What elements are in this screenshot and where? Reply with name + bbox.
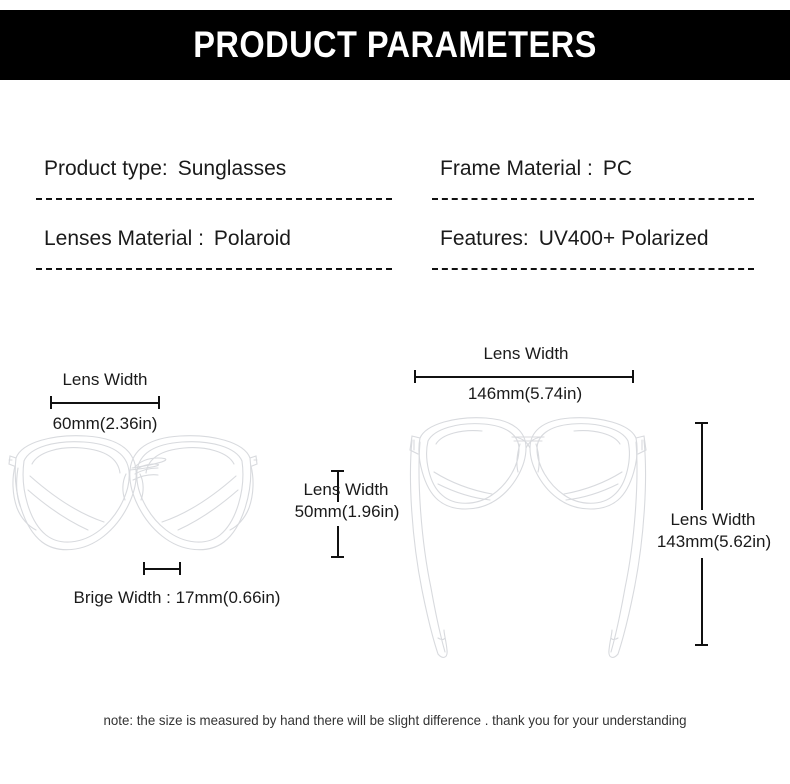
spec-label: Features:	[440, 227, 529, 250]
dimension-bar	[50, 402, 160, 404]
dimension-cap	[331, 556, 344, 558]
spec-divider	[36, 268, 392, 270]
back-total-height-measure: 143mm(5.62in)	[640, 532, 788, 552]
back-total-width-measure: 146mm(5.74in)	[450, 384, 600, 404]
back-total-width-caption: Lens Width	[456, 344, 596, 364]
spec-row: Product type:Sunglasses Frame Material :…	[0, 140, 790, 210]
dimension-cap	[331, 470, 344, 472]
product-parameters-page: PRODUCT PARAMETERS Product type:Sunglass…	[0, 0, 790, 784]
back-total-height-caption: Lens Width	[648, 510, 778, 530]
spec-lenses-material: Lenses Material :Polaroid	[44, 210, 291, 268]
back-total-height-dimension-line-bottom	[695, 558, 708, 646]
back-total-width-dimension-line	[414, 370, 634, 383]
sunglasses-back-view-illustration	[408, 410, 648, 660]
spec-value: PC	[593, 157, 632, 180]
front-lens-width-caption: Lens Width	[40, 370, 170, 390]
sunglasses-front-view-illustration	[8, 430, 258, 570]
spec-frame-material: Frame Material :PC	[440, 140, 632, 198]
dimension-bar	[701, 422, 703, 510]
dimension-bar	[337, 526, 339, 558]
dimension-bar	[143, 568, 181, 570]
dimension-bar	[701, 558, 703, 646]
front-lens-width-measure: 60mm(2.36in)	[32, 414, 178, 434]
spec-product-type: Product type:Sunglasses	[44, 140, 286, 198]
dimension-cap	[143, 562, 145, 575]
spec-value: Polaroid	[204, 227, 291, 250]
page-title: PRODUCT PARAMETERS	[47, 10, 742, 80]
front-lens-height-measure: 50mm(1.96in)	[292, 502, 402, 522]
spec-features: Features:UV400+ Polarized	[440, 210, 709, 268]
header-banner: PRODUCT PARAMETERS	[0, 10, 790, 80]
spec-divider	[432, 268, 754, 270]
measurement-diagram: Lens Width 60mm(2.36in) Lens Width 50mm(…	[0, 330, 790, 690]
dimension-cap	[414, 370, 416, 383]
dimension-cap	[632, 370, 634, 383]
bridge-width-caption: Brige Width : 17mm(0.66in)	[52, 588, 302, 608]
spec-label: Lenses Material :	[44, 227, 204, 250]
dimension-cap	[695, 644, 708, 646]
dimension-cap	[179, 562, 181, 575]
bridge-width-dimension-line	[143, 562, 181, 575]
spec-value: UV400+ Polarized	[529, 227, 709, 250]
back-total-height-dimension-line-top	[695, 422, 708, 510]
front-lens-height-dimension-line-bottom	[331, 526, 344, 558]
front-lens-width-dimension-line	[50, 396, 160, 409]
spec-value: Sunglasses	[168, 157, 287, 180]
spec-label: Frame Material :	[440, 157, 593, 180]
spec-row: Lenses Material :Polaroid Features:UV400…	[0, 210, 790, 280]
dimension-bar	[414, 376, 634, 378]
front-lens-height-caption: Lens Width	[296, 480, 396, 500]
footer-note: note: the size is measured by hand there…	[20, 712, 771, 728]
spec-label: Product type:	[44, 157, 168, 180]
dimension-cap	[50, 396, 52, 409]
dimension-cap	[158, 396, 160, 409]
spec-divider	[432, 198, 754, 200]
dimension-cap	[695, 422, 708, 424]
spec-divider	[36, 198, 392, 200]
